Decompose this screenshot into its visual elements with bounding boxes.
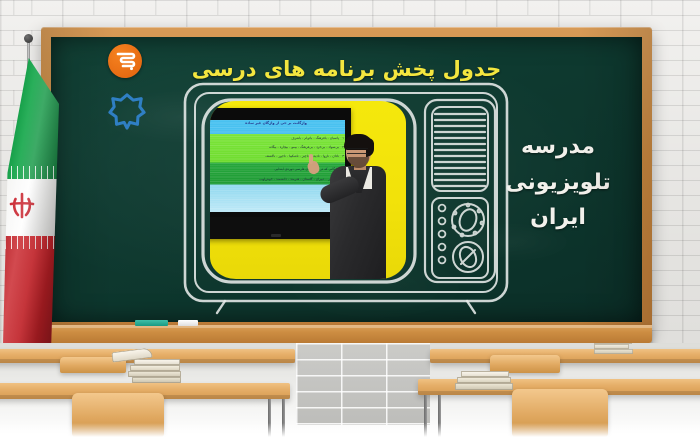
screen-stand [271, 234, 281, 237]
iran-flag [2, 40, 60, 345]
chalk-teal [135, 320, 168, 326]
teacher-pointing-finger [309, 154, 313, 164]
chalkboard-surface: جدول پخش برنامه های درسی مدرسه تلویزیونی… [51, 37, 642, 322]
tv-screen-photo: واژگانت بر حی از واژگان غیر ساده ١ پاسبا… [210, 101, 406, 279]
desk-back-right [430, 349, 700, 363]
book-stack-right [455, 371, 515, 395]
chalkboard-frame: جدول پخش برنامه های درسی مدرسه تلویزیونی… [41, 27, 652, 332]
flag-cloth [3, 58, 59, 345]
book-stack-left [126, 359, 182, 387]
chalk-tray-lip [41, 325, 652, 328]
education-ministry-logo-icon [108, 92, 146, 130]
aisle-brick-wall [296, 343, 430, 425]
teacher-glasses [347, 148, 368, 154]
chalk-tv-drawing: واژگانت بر حی از واژگان غیر ساده ١ پاسبا… [181, 80, 511, 305]
chalk-tray [41, 325, 652, 343]
flag-pole-finial [24, 34, 33, 43]
teacher-figure [322, 129, 392, 279]
irib-logo-icon [108, 44, 142, 78]
floor-fade [0, 423, 700, 437]
classroom-foreground [0, 343, 700, 437]
classroom-banner-scene: جدول پخش برنامه های درسی مدرسه تلویزیونی… [0, 0, 700, 437]
chalk-white [178, 320, 198, 326]
book-stack-back-right [594, 343, 634, 355]
flag-shading [3, 58, 59, 345]
